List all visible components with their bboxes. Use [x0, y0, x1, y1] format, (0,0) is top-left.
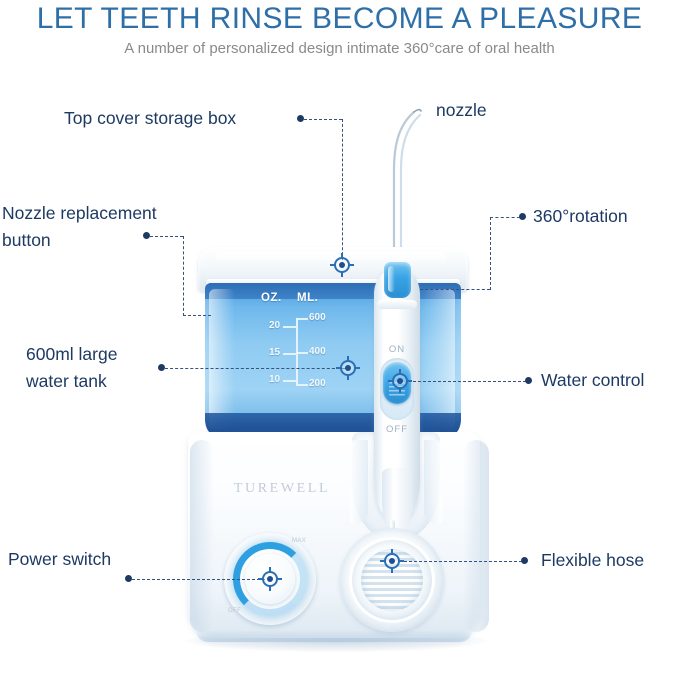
scale-tick-oz-10	[283, 380, 296, 382]
scale-header-ml: ML.	[297, 292, 318, 304]
scale-ml-400: 400	[309, 346, 326, 357]
callout-label-power-switch: Power switch	[8, 546, 111, 573]
switch-label-on: ON	[374, 344, 420, 355]
brand-logo: TUREWELL	[212, 481, 352, 497]
scale-axis	[296, 318, 298, 384]
callout-dot-power-switch	[125, 575, 132, 582]
tank-gloss-left	[209, 289, 235, 429]
target-flexible-hose	[381, 550, 403, 572]
callout-dot-flexible-hose	[521, 557, 528, 564]
scale-ml-200: 200	[309, 378, 326, 389]
leader-h-power-switch	[132, 579, 265, 580]
tank-gloss-right	[421, 289, 455, 429]
callout-label-rotation: 360°rotation	[533, 203, 628, 230]
target-power-switch	[259, 568, 281, 590]
leader-h-flexible-hose	[399, 561, 522, 562]
callout-line-2: button	[2, 230, 51, 250]
cradle-wing-left	[350, 440, 368, 524]
callout-dot-top-cover-storage-box	[297, 115, 304, 122]
callout-dot-water-control	[525, 377, 532, 384]
callout-line-1: 600ml large	[26, 344, 117, 364]
leader-h-rotation-1	[490, 217, 520, 218]
switch-label-off: OFF	[374, 424, 420, 435]
target-top-cover-storage-box	[331, 254, 353, 276]
callout-label-nozzle-replacement-button: Nozzle replacement button	[2, 200, 202, 254]
water-tank	[205, 283, 461, 435]
scale-header-oz: OZ.	[261, 292, 282, 304]
base-edge-right	[463, 440, 489, 632]
target-water-control	[389, 370, 411, 392]
nozzle-socket-gloss	[388, 266, 395, 292]
leader-h-nozzle-btn-2	[183, 315, 211, 316]
leader-h-top-cover-1	[304, 119, 342, 120]
leader-h-water-tank	[165, 368, 345, 369]
callout-dot-nozzle-replacement-button	[143, 232, 150, 239]
scale-tick-ml-200	[296, 384, 308, 386]
callout-line-2: water tank	[26, 371, 107, 391]
callout-label-nozzle: nozzle	[436, 97, 487, 124]
leader-v-top-cover	[342, 119, 343, 265]
callout-dot-water-tank	[158, 364, 165, 371]
scale-tick-ml-400	[296, 352, 308, 354]
callout-label-top-cover-storage-box: Top cover storage box	[64, 105, 236, 132]
callout-dot-rotation	[519, 213, 526, 220]
callout-line-1: Nozzle replacement	[2, 203, 157, 223]
leader-v-nozzle-btn	[183, 236, 184, 316]
leader-h-rotation-2	[420, 289, 490, 290]
scale-oz-10: 10	[269, 374, 280, 385]
dial-label-off: OFF	[228, 608, 241, 614]
scale-ml-600: 600	[309, 312, 326, 323]
target-water-tank	[337, 357, 359, 379]
dial-label-max: MAX	[292, 538, 306, 544]
cradle-wing-right	[424, 440, 442, 524]
base-edge-left	[190, 440, 214, 632]
scale-oz-15: 15	[269, 347, 280, 358]
base-foot	[196, 630, 472, 642]
leader-h-water-control	[408, 381, 526, 382]
callout-label-water-control: Water control	[541, 367, 644, 394]
callout-label-flexible-hose: Flexible hose	[541, 547, 644, 574]
scale-tick-oz-15	[283, 353, 296, 355]
scale-tick-ml-600	[296, 318, 308, 320]
scale-tick-oz-20	[283, 326, 296, 328]
leader-h-nozzle-btn-1	[150, 236, 183, 237]
leader-v-rotation	[490, 217, 491, 290]
handle-collar	[377, 300, 417, 309]
infographic-page: LET TEETH RINSE BECOME A PLEASURE A numb…	[0, 0, 679, 690]
scale-oz-20: 20	[269, 320, 280, 331]
